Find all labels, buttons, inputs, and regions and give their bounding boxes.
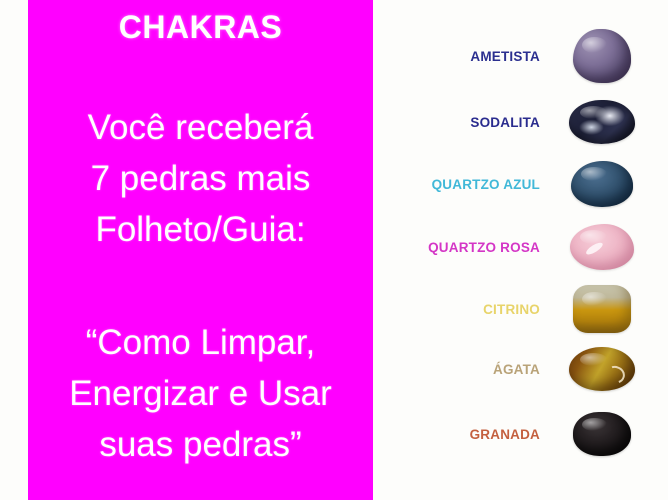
stone-list: AMETISTA SODALITA QUARTZO AZUL QUARTZO R… [380,0,668,500]
garnet-gem-icon [573,412,631,456]
stone-label-sodalita: SODALITA [380,115,548,130]
stone-image-quartzo-azul [548,153,656,215]
stone-label-granada: GRANADA [380,427,548,442]
stone-image-ametista [548,25,656,87]
agate-highlight [603,363,627,386]
promo-offer-line-2: 7 pedras mais [28,153,373,204]
stone-label-citrino: CITRINO [380,302,548,317]
stone-row-granada: GRANADA [380,402,668,466]
stone-label-agata: ÁGATA [380,362,548,377]
stone-image-citrino [548,278,656,340]
promo-offer-line-1: Você receberá [28,102,373,153]
amethyst-gem-icon [573,29,631,83]
promo-panel: CHAKRAS Você receberá 7 pedras mais Folh… [28,0,373,500]
stone-label-quartzo-azul: QUARTZO AZUL [380,177,548,192]
stone-row-quartzo-rosa: QUARTZO ROSA [380,215,668,279]
rose-quartz-gem-icon [570,224,634,270]
stone-image-agata [548,338,656,400]
stone-row-ametista: AMETISTA [380,24,668,88]
stone-image-quartzo-rosa [548,216,656,278]
stone-row-agata: ÁGATA [380,337,668,401]
stone-row-citrino: CITRINO [380,277,668,341]
stone-label-ametista: AMETISTA [380,49,548,64]
promo-offer-line-3: Folheto/Guia: [28,204,373,255]
stone-image-sodalita [548,91,656,153]
sodalite-gem-icon [569,100,635,144]
stone-row-sodalita: SODALITA [380,90,668,154]
stone-label-quartzo-rosa: QUARTZO ROSA [380,240,548,255]
stone-image-granada [548,403,656,465]
promo-guide-line-2: Energizar e Usar [28,368,373,419]
promo-guide-line-3: suas pedras” [28,419,373,470]
promo-guide-title-text: “Como Limpar, Energizar e Usar suas pedr… [28,317,373,470]
page-title: CHAKRAS [28,8,373,46]
citrine-gem-icon [573,285,631,333]
stone-row-quartzo-azul: QUARTZO AZUL [380,152,668,216]
rose-quartz-highlight [585,241,605,257]
chakra-stones-poster: CHAKRAS Você receberá 7 pedras mais Folh… [0,0,668,500]
promo-offer-text: Você receberá 7 pedras mais Folheto/Guia… [28,102,373,255]
agate-gem-icon [569,347,635,391]
promo-guide-line-1: “Como Limpar, [28,317,373,368]
blue-quartz-gem-icon [571,161,633,207]
